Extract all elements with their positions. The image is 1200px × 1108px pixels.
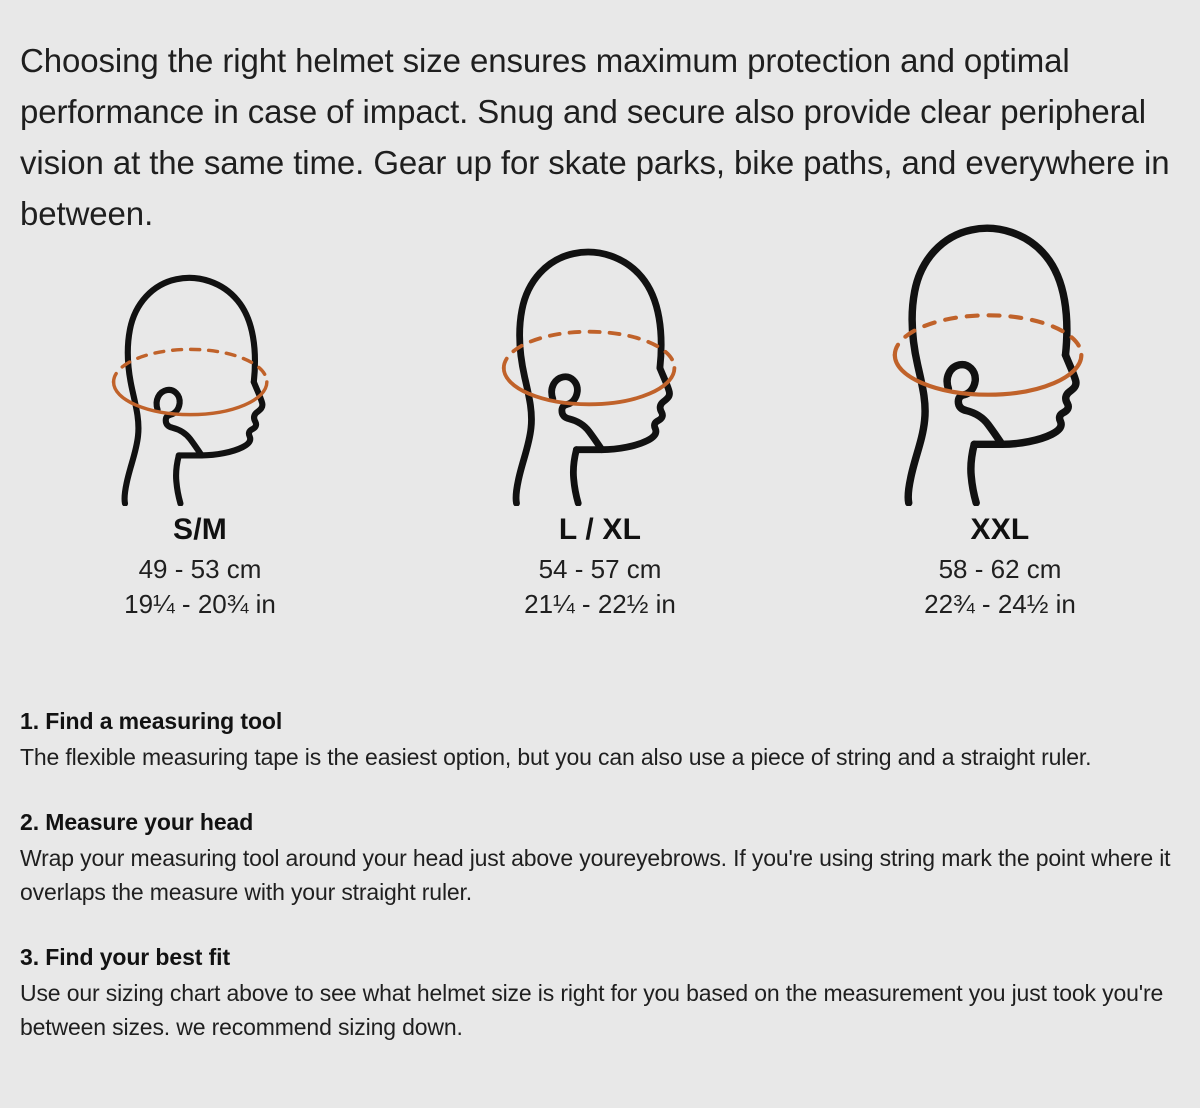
step-body: Wrap your measuring tool around your hea… xyxy=(20,841,1180,909)
size-measure-in: 19¼ - 20¾ in xyxy=(124,587,276,622)
size-measure-cm: 49 - 53 cm xyxy=(139,552,262,587)
size-measure-in: 21¼ - 22½ in xyxy=(524,587,676,622)
step-title: 2. Measure your head xyxy=(20,807,1180,838)
instruction-step: 3. Find your best fit Use our sizing cha… xyxy=(20,942,1180,1044)
step-title: 3. Find your best fit xyxy=(20,942,1180,973)
size-name: S/M xyxy=(173,512,227,548)
size-measure-cm: 54 - 57 cm xyxy=(539,552,662,587)
size-column-sm: S/M 49 - 53 cm 19¼ - 20¾ in xyxy=(0,238,400,622)
head-illustration-sm xyxy=(0,238,400,506)
step-body: Use our sizing chart above to see what h… xyxy=(20,976,1180,1044)
head-illustration-xxl xyxy=(800,238,1200,506)
instruction-step: 1. Find a measuring tool The flexible me… xyxy=(20,706,1180,774)
step-body: The flexible measuring tape is the easie… xyxy=(20,740,1180,774)
size-column-xxl: XXL 58 - 62 cm 22¾ - 24½ in xyxy=(800,238,1200,622)
size-chart: S/M 49 - 53 cm 19¼ - 20¾ in L / XL 54 - … xyxy=(0,222,1200,622)
head-illustration-lxl xyxy=(400,238,800,506)
size-measure-cm: 58 - 62 cm xyxy=(939,552,1062,587)
size-measure-in: 22¾ - 24½ in xyxy=(924,587,1076,622)
size-column-lxl: L / XL 54 - 57 cm 21¼ - 22½ in xyxy=(400,238,800,622)
measuring-instructions: 1. Find a measuring tool The flexible me… xyxy=(20,706,1180,1044)
size-name: XXL xyxy=(971,512,1030,548)
instruction-step: 2. Measure your head Wrap your measuring… xyxy=(20,807,1180,909)
size-name: L / XL xyxy=(559,512,641,548)
step-title: 1. Find a measuring tool xyxy=(20,706,1180,737)
